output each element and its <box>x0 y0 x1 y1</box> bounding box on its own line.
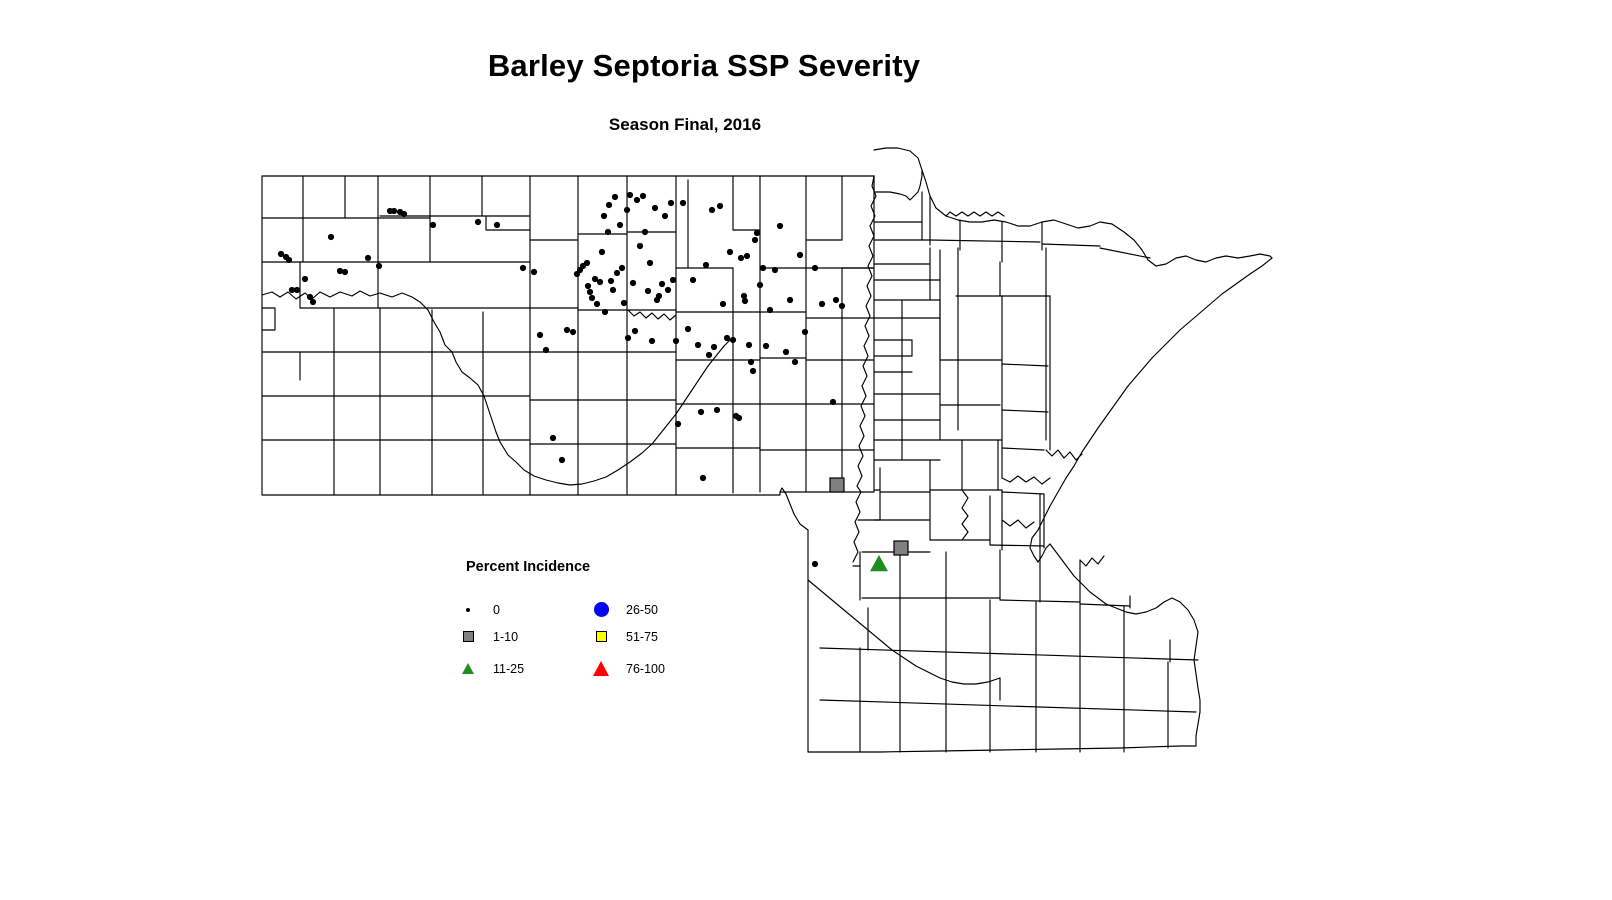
map-point-0 <box>742 298 748 304</box>
map-point-0 <box>727 249 733 255</box>
legend-red-triangle-icon <box>588 661 614 676</box>
map-point-0 <box>594 301 600 307</box>
map-point-0 <box>550 435 556 441</box>
map-point-0 <box>746 342 752 348</box>
legend-item-76-100[interactable]: 76-100 <box>588 655 665 682</box>
map-point-0 <box>703 262 709 268</box>
map-point-0 <box>401 211 407 217</box>
map-point-0 <box>777 223 783 229</box>
legend-item-11-25[interactable]: 11-25 <box>455 655 524 682</box>
map-point-0 <box>602 309 608 315</box>
map-point-0 <box>647 260 653 266</box>
map-point-0 <box>709 207 715 213</box>
map-point-0 <box>659 281 665 287</box>
map-point-0 <box>830 399 836 405</box>
map-point-0 <box>750 368 756 374</box>
map-point-0 <box>812 561 818 567</box>
map-point-0 <box>662 213 668 219</box>
map-point-0 <box>376 263 382 269</box>
map-point-0 <box>673 338 679 344</box>
legend-label: 0 <box>493 603 500 617</box>
legend-title: Percent Incidence <box>466 559 590 575</box>
map-point-0 <box>787 297 793 303</box>
map-point-0 <box>286 257 292 263</box>
map-point-0 <box>685 326 691 332</box>
map-point-0 <box>670 277 676 283</box>
map-point-0 <box>630 280 636 286</box>
map-point-0 <box>783 349 789 355</box>
legend-label: 11-25 <box>493 662 524 676</box>
map-point-0 <box>564 327 570 333</box>
map-point-0 <box>833 297 839 303</box>
map-point-0 <box>812 265 818 271</box>
map-point-0 <box>680 200 686 206</box>
map-point-0 <box>584 260 590 266</box>
map-point-0 <box>652 205 658 211</box>
map-point-0 <box>494 222 500 228</box>
map-point-0 <box>690 277 696 283</box>
legend-label: 1-10 <box>493 630 518 644</box>
legend-item-51-75[interactable]: 51-75 <box>588 623 665 650</box>
map-point-0 <box>475 219 481 225</box>
map-point-1-10 <box>830 478 844 492</box>
map-point-0 <box>597 279 603 285</box>
legend-item-26-50[interactable]: 26-50 <box>588 596 665 623</box>
map-point-0 <box>711 344 717 350</box>
map-point-0 <box>724 335 730 341</box>
map-point-0 <box>601 213 607 219</box>
map-point-0 <box>797 252 803 258</box>
map-point-0 <box>570 329 576 335</box>
map-point-0 <box>698 409 704 415</box>
map-point-0 <box>627 192 633 198</box>
map-point-0 <box>617 222 623 228</box>
map-point-0 <box>744 253 750 259</box>
map-point-0 <box>668 200 674 206</box>
map-point-0 <box>621 300 627 306</box>
legend-yellow-square-icon <box>588 631 614 642</box>
map-point-0 <box>675 421 681 427</box>
map-point-1-10 <box>894 541 908 555</box>
map-point-0 <box>656 293 662 299</box>
map-point-0 <box>608 278 614 284</box>
map-point-0 <box>717 203 723 209</box>
map-point-0 <box>665 287 671 293</box>
legend-column-right: 26-50 51-75 76-100 <box>588 596 665 682</box>
map-point-0 <box>589 295 595 301</box>
map-point-0 <box>752 237 758 243</box>
map-point-0 <box>302 276 308 282</box>
map-point-0 <box>614 270 620 276</box>
map-point-11-25 <box>870 555 888 571</box>
map-outlines <box>262 148 1272 752</box>
map-point-0 <box>700 475 706 481</box>
legend-column-left: 0 1-10 11-25 <box>455 596 524 682</box>
map-point-0 <box>649 338 655 344</box>
map-point-0 <box>587 289 593 295</box>
map-point-0 <box>772 267 778 273</box>
map-point-0 <box>585 283 591 289</box>
map-point-0 <box>736 415 742 421</box>
data-points-layer <box>278 192 908 571</box>
legend-label: 76-100 <box>626 662 665 676</box>
map-point-0 <box>819 301 825 307</box>
map-point-0 <box>695 342 701 348</box>
map-point-0 <box>760 265 766 271</box>
map-point-0 <box>391 208 397 214</box>
map-point-0 <box>619 265 625 271</box>
map-point-0 <box>634 197 640 203</box>
legend-dot-icon <box>455 608 481 612</box>
legend-label: 26-50 <box>626 603 658 617</box>
map-point-0 <box>802 329 808 335</box>
map-point-0 <box>599 249 605 255</box>
map-point-0 <box>839 303 845 309</box>
map-point-0 <box>531 269 537 275</box>
legend-blue-circle-icon <box>588 602 614 617</box>
legend-item-0[interactable]: 0 <box>455 596 524 623</box>
map-point-0 <box>612 194 618 200</box>
map-point-0 <box>543 347 549 353</box>
map-point-0 <box>792 359 798 365</box>
legend-item-1-10[interactable]: 1-10 <box>455 623 524 650</box>
map-point-0 <box>605 229 611 235</box>
map-point-0 <box>365 255 371 261</box>
map-point-0 <box>537 332 543 338</box>
map-point-0 <box>714 407 720 413</box>
map-point-0 <box>430 222 436 228</box>
map-point-0 <box>559 457 565 463</box>
map-point-0 <box>610 287 616 293</box>
map-point-0 <box>624 207 630 213</box>
map-point-0 <box>748 359 754 365</box>
map-legend: Percent Incidence 0 1-10 11-25 26-50 <box>455 552 715 682</box>
legend-gray-square-icon <box>455 631 481 642</box>
map-point-0 <box>342 269 348 275</box>
map-point-0 <box>757 282 763 288</box>
map-point-0 <box>294 287 300 293</box>
map-point-0 <box>640 193 646 199</box>
map-point-0 <box>738 255 744 261</box>
map-figure: Barley Septoria SSP Severity Season Fina… <box>0 0 1612 900</box>
legend-green-triangle-icon <box>455 663 481 674</box>
map-point-0 <box>754 230 760 236</box>
map-point-0 <box>606 202 612 208</box>
map-point-0 <box>767 307 773 313</box>
map-point-0 <box>645 288 651 294</box>
map-point-0 <box>642 229 648 235</box>
map-point-0 <box>720 301 726 307</box>
map-point-0 <box>632 328 638 334</box>
map-point-0 <box>328 234 334 240</box>
map-point-0 <box>730 337 736 343</box>
map-point-0 <box>625 335 631 341</box>
map-point-0 <box>637 243 643 249</box>
county-map <box>0 0 1612 900</box>
legend-label: 51-75 <box>626 630 658 644</box>
map-point-0 <box>706 352 712 358</box>
map-point-0 <box>310 299 316 305</box>
map-point-0 <box>520 265 526 271</box>
map-point-0 <box>763 343 769 349</box>
